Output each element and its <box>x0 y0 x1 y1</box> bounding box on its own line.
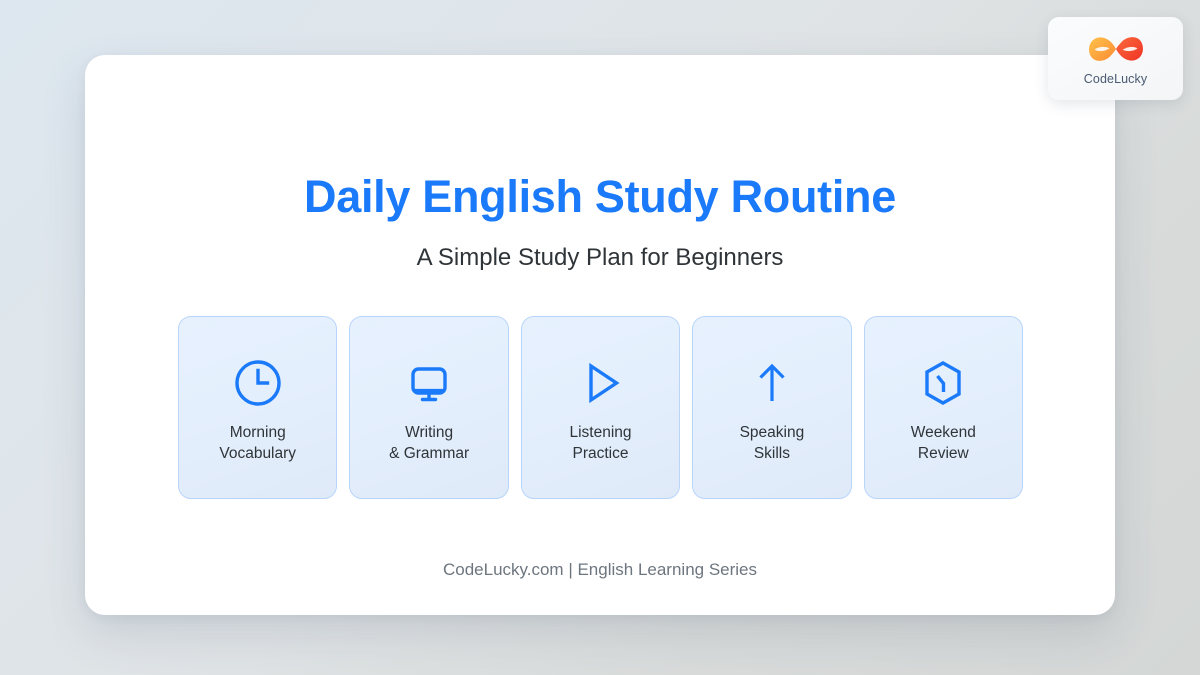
step-card-writing-grammar[interactable]: Writing & Grammar <box>349 316 508 499</box>
slide-canvas: Daily English Study Routine A Simple Stu… <box>0 0 1200 675</box>
slide-panel: Daily English Study Routine A Simple Stu… <box>85 55 1115 615</box>
brand-name: CodeLucky <box>1084 72 1147 86</box>
step-card-listening-practice[interactable]: Listening Practice <box>521 316 680 499</box>
step-card-label: Morning Vocabulary <box>219 423 296 464</box>
step-card-label: Weekend Review <box>911 423 976 464</box>
headline-block: Daily English Study Routine A Simple Stu… <box>85 173 1115 272</box>
brand-badge[interactable]: CodeLucky <box>1048 17 1183 100</box>
infinity-leaf-logo-icon <box>1085 34 1147 69</box>
step-card-weekend-review[interactable]: Weekend Review <box>864 316 1023 499</box>
page-subtitle: A Simple Study Plan for Beginners <box>85 244 1115 273</box>
step-card-label: Speaking Skills <box>740 423 805 464</box>
hexagon-clock-icon <box>917 355 969 411</box>
step-card-morning-vocabulary[interactable]: Morning Vocabulary <box>178 316 337 499</box>
page-title: Daily English Study Routine <box>85 173 1115 222</box>
step-card-label: Listening Practice <box>569 423 631 464</box>
step-card-row: Morning Vocabulary Writing & Grammar <box>178 316 1023 499</box>
arrow-up-icon <box>746 355 798 411</box>
step-card-speaking-skills[interactable]: Speaking Skills <box>692 316 851 499</box>
slide-footer: CodeLucky.com | English Learning Series <box>85 560 1115 580</box>
monitor-icon <box>403 355 455 411</box>
step-card-label: Writing & Grammar <box>389 423 469 464</box>
clock-icon <box>232 355 284 411</box>
play-triangle-icon <box>575 355 627 411</box>
